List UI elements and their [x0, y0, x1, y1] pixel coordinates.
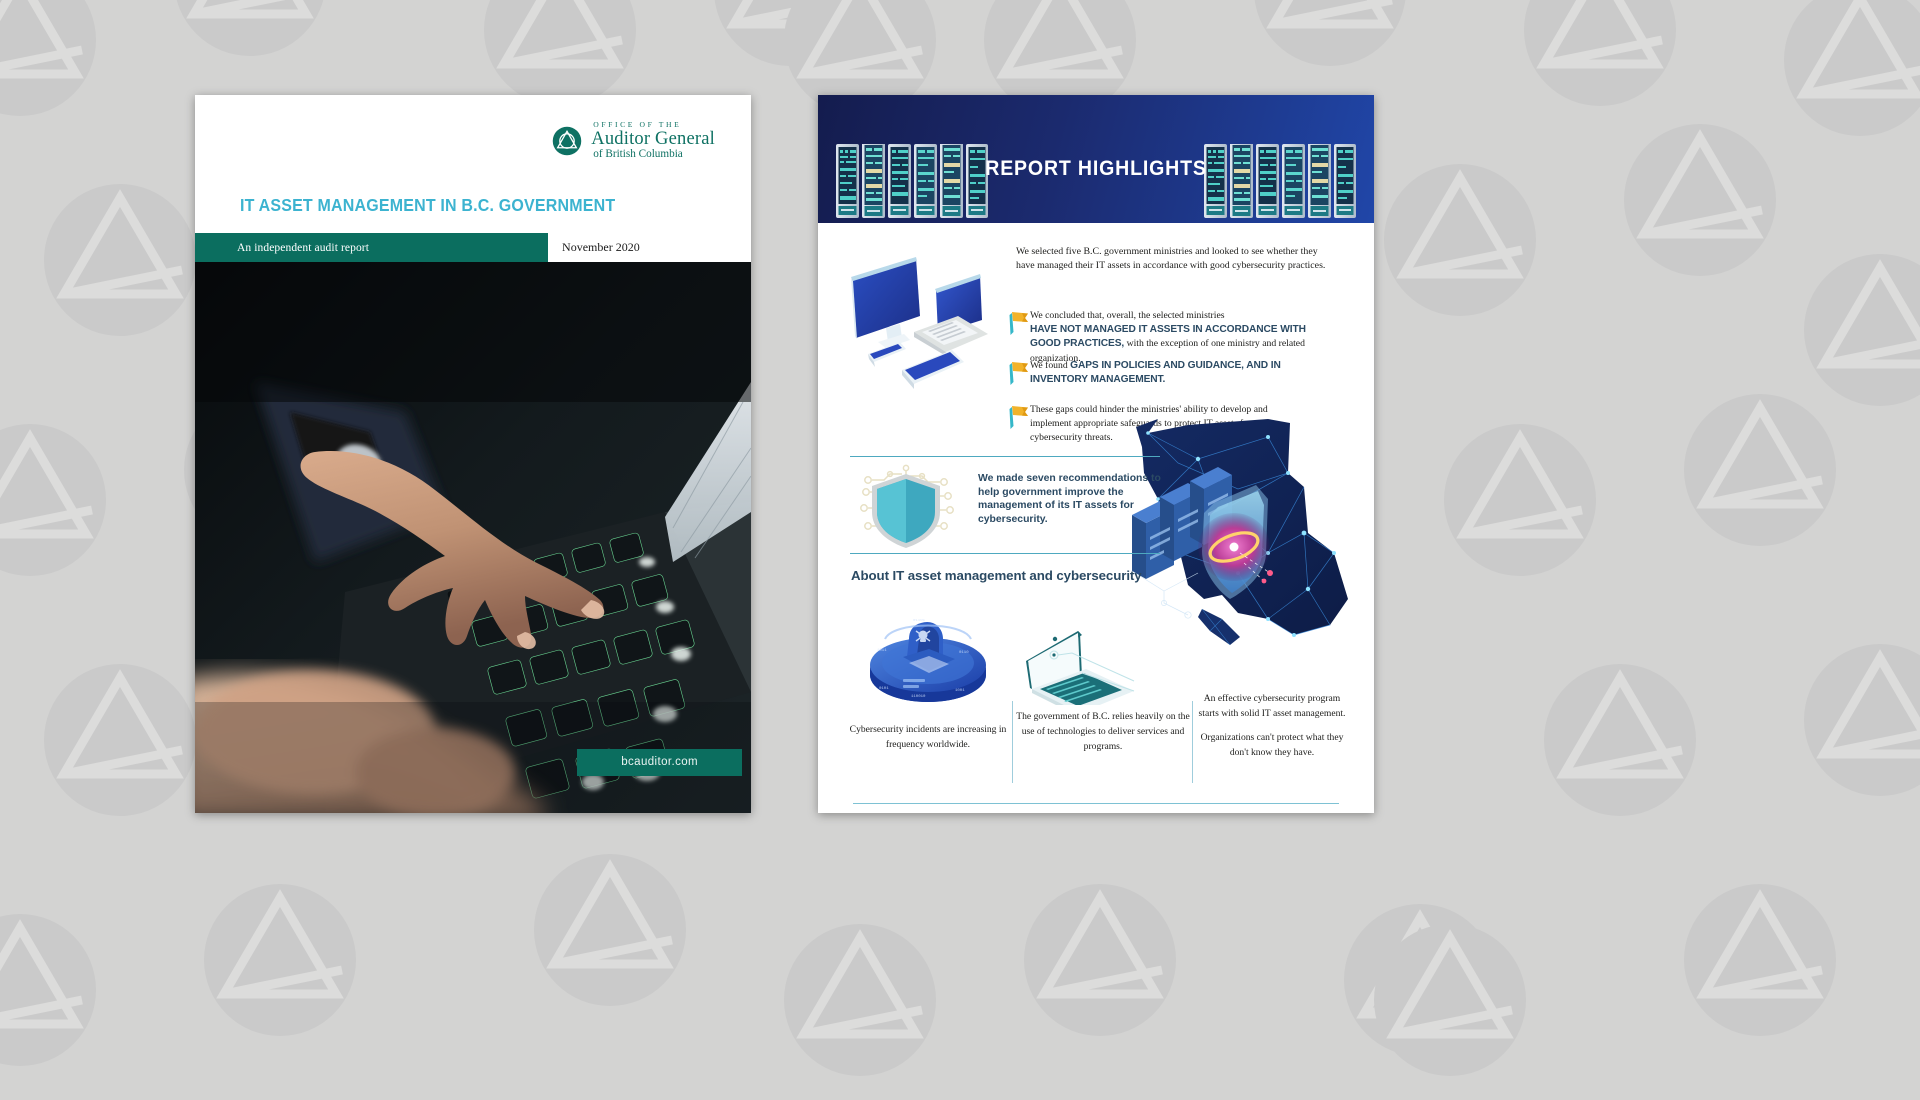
report-highlights-page[interactable]: REPORT HIGHLIGHTS: [818, 95, 1374, 813]
cover-photo: [195, 262, 751, 813]
svg-text:0110: 0110: [959, 651, 969, 655]
about-section-heading: About IT asset management and cybersecur…: [851, 568, 1142, 583]
logo-auditor-general: Auditor General: [591, 130, 715, 149]
svg-text:1011: 1011: [877, 649, 887, 653]
finding-2-bold: GAPS IN POLICIES AND GUIDANCE, AND IN IN…: [1030, 360, 1281, 385]
auditor-general-circle-triangle-logo-icon: [552, 126, 582, 156]
yellow-flag-icon: [1008, 404, 1030, 428]
finding-2-text: We found GAPS IN POLICIES AND GUIDANCE, …: [1030, 359, 1338, 388]
yellow-flag-icon: [1008, 310, 1030, 334]
caption-3: An effective cybersecurity program start…: [1194, 692, 1350, 760]
svg-text:01101: 01101: [913, 619, 926, 623]
hacker-data-disc-illustration-icon: 10110110 01011001 11001001101: [863, 601, 993, 711]
yellow-flag-icon: [1008, 360, 1030, 384]
highlights-header: REPORT HIGHLIGHTS: [818, 95, 1374, 223]
server-rack-cluster-right-icon: [1204, 144, 1356, 223]
caption-1: Cybersecurity incidents are increasing i…: [843, 723, 1013, 753]
finding-item-1: We concluded that, overall, the selected…: [1008, 309, 1338, 366]
finding-item-2: We found GAPS IN POLICIES AND GUIDANCE, …: [1008, 359, 1338, 388]
highlights-body: We selected five B.C. government ministr…: [818, 223, 1374, 813]
shield-circuit-board-icon: [854, 464, 958, 548]
caption-3-part-2: Organizations can't protect what they do…: [1201, 732, 1344, 758]
svg-text:0101: 0101: [879, 687, 889, 691]
finding-2-lead: We found: [1030, 360, 1068, 371]
logo-of-british-columbia: of British Columbia: [593, 149, 715, 160]
recommendation-text: We made seven recommendations to help go…: [978, 472, 1163, 527]
cover-title: IT ASSET MANAGEMENT IN B.C. GOVERNMENT: [240, 195, 683, 216]
auditor-general-logo: OFFICE OF THE Auditor General of British…: [552, 121, 715, 160]
cover-date: November 2020: [548, 233, 751, 262]
caption-3-spacer: [1194, 722, 1350, 731]
finding-1-text: We concluded that, overall, the selected…: [1030, 309, 1338, 366]
footer-rule: [853, 803, 1339, 804]
caption-3-part-1: An effective cybersecurity program start…: [1199, 693, 1346, 719]
highlights-intro-text: We selected five B.C. government ministr…: [1016, 245, 1336, 274]
finding-1-lead: We concluded that, overall, the selected…: [1030, 310, 1225, 321]
report-cover-page[interactable]: OFFICE OF THE Auditor General of British…: [195, 95, 751, 813]
cover-subtitle: An independent audit report: [195, 233, 548, 262]
recommendation-rule-top: [850, 456, 1160, 457]
isometric-devices-illustration-icon: [848, 250, 1008, 400]
caption-divider-2: [1192, 701, 1193, 783]
svg-text:1001: 1001: [955, 689, 965, 693]
logo-office-of-the: OFFICE OF THE: [593, 121, 715, 129]
caption-2: The government of B.C. relies heavily on…: [1014, 710, 1192, 755]
highlights-title: REPORT HIGHLIGHTS: [837, 157, 1354, 181]
bcauditor-url-badge[interactable]: bcauditor.com: [577, 749, 742, 776]
recommendation-rule-bottom: [850, 553, 1160, 554]
svg-text:110010: 110010: [911, 695, 926, 699]
cover-band: An independent audit report November 202…: [195, 233, 751, 262]
server-rack-cluster-left-icon: [836, 144, 988, 223]
isometric-laptop-illustration-icon: [1008, 595, 1138, 705]
recommendation-band: We made seven recommendations to help go…: [850, 456, 1160, 554]
